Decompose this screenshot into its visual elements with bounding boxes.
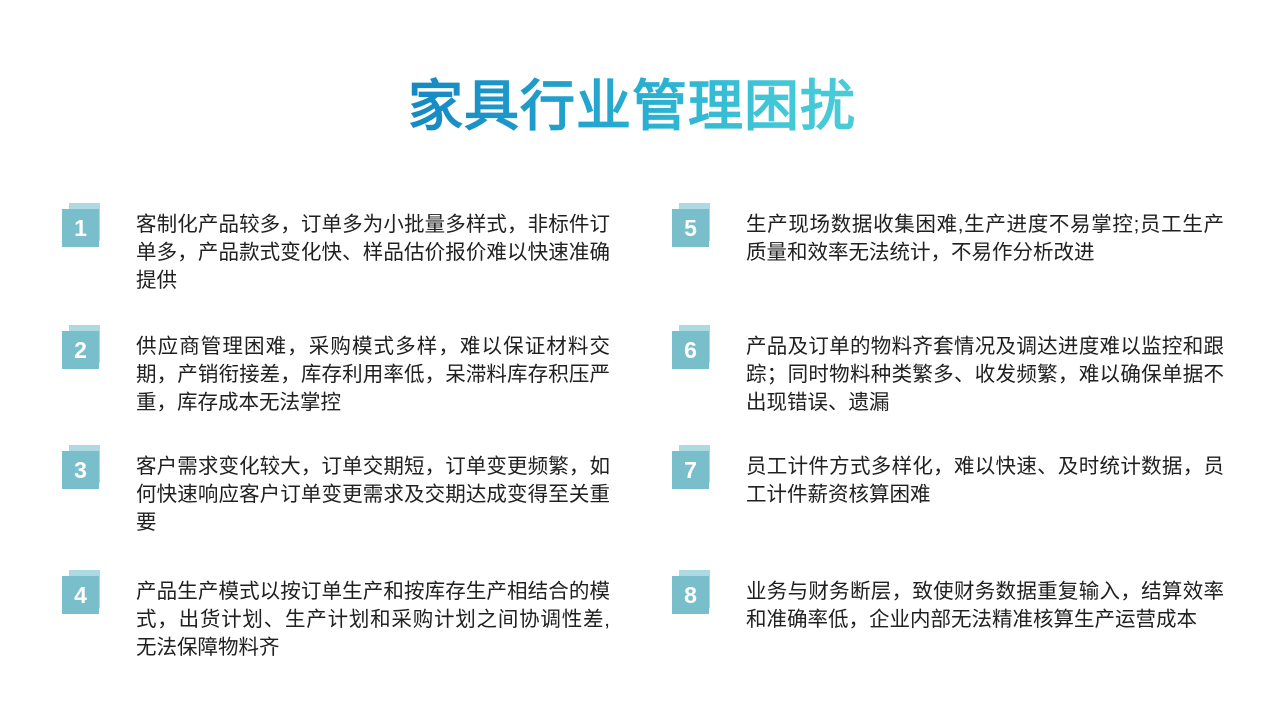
badge-number: 6	[672, 331, 709, 369]
title-container: 家具行业管理困扰	[0, 38, 1264, 175]
item-number-badge: 5	[672, 203, 710, 247]
content-columns: 1 客制化产品较多，订单多为小批量多样式，非标件订单多，产品款式变化快、样品估价…	[0, 190, 1264, 690]
item-text: 客制化产品较多，订单多为小批量多样式，非标件订单多，产品款式变化快、样品估价报价…	[136, 211, 610, 295]
badge-number: 7	[672, 451, 709, 489]
item-text: 产品生产模式以按订单生产和按库存生产相结合的模式，出货计划、生产计划和采购计划之…	[136, 578, 610, 662]
item-number-badge: 2	[62, 325, 100, 369]
slide-root: 家具行业管理困扰 1 客制化产品较多，订单多为小批量多样式，非标件订单多，产品款…	[0, 0, 1264, 705]
badge-number: 8	[672, 576, 709, 614]
item-text: 员工计件方式多样化，难以快速、及时统计数据，员工计件薪资核算困难	[746, 453, 1224, 509]
item-text: 产品及订单的物料齐套情况及调达进度难以监控和跟踪；同时物料种类繁多、收发频繁，难…	[746, 333, 1224, 417]
item-number-badge: 7	[672, 445, 710, 489]
item-number-badge: 3	[62, 445, 100, 489]
badge-number: 5	[672, 209, 709, 247]
item-text: 客户需求变化较大，订单交期短，订单变更频繁，如何快速响应客户订单变更需求及交期达…	[136, 453, 610, 537]
item-number-badge: 8	[672, 570, 710, 614]
badge-number: 4	[62, 576, 99, 614]
item-number-badge: 4	[62, 570, 100, 614]
item-text: 生产现场数据收集困难,生产进度不易掌控;员工生产质量和效率无法统计，不易作分析改…	[746, 211, 1224, 267]
item-number-badge: 6	[672, 325, 710, 369]
badge-number: 1	[62, 209, 99, 247]
item-text: 业务与财务断层，致使财务数据重复输入，结算效率和准确率低，企业内部无法精准核算生…	[746, 578, 1224, 634]
page-title: 家具行业管理困扰	[408, 75, 856, 138]
item-text: 供应商管理困难，采购模式多样，难以保证材料交期，产销衔接差，库存利用率低，呆滞料…	[136, 333, 610, 417]
badge-number: 3	[62, 451, 99, 489]
item-number-badge: 1	[62, 203, 100, 247]
badge-number: 2	[62, 331, 99, 369]
